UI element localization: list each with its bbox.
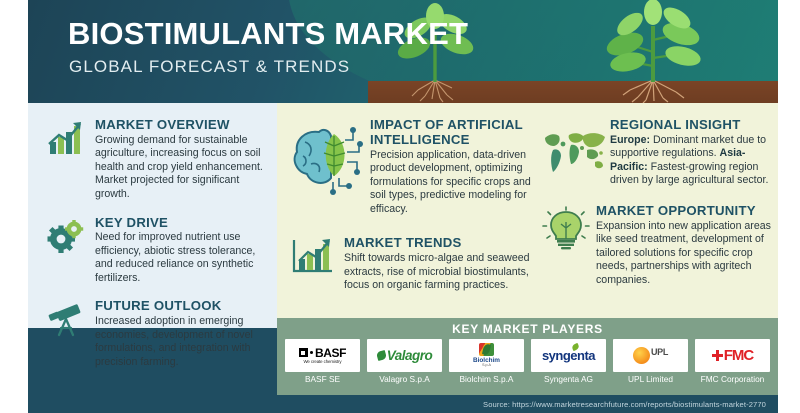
section-heading: MARKET TRENDS	[344, 236, 538, 251]
fmc-wordmark: FMC	[724, 347, 754, 364]
telescope-icon	[44, 301, 88, 343]
basf-wordmark: BASF	[315, 347, 346, 359]
fmc-cross-mark	[712, 350, 723, 361]
section-body: Shift towards micro-algae and seaweed ex…	[344, 252, 538, 293]
player-caption: BASF SE	[285, 375, 360, 384]
biolchim-suffix: S.p.A	[482, 364, 491, 368]
section-body-regional: Europe: Dominant market due to supportiv…	[610, 134, 772, 188]
valagro-wordmark: Valagro	[387, 348, 433, 363]
section-market-overview: MARKET OVERVIEW Growing demand for susta…	[44, 118, 272, 202]
biolchim-leaf-mark	[479, 343, 494, 356]
key-market-players-panel: KEY MARKET PLAYERS BASF We create chemis…	[277, 318, 778, 395]
player-caption: UPL Limited	[613, 375, 688, 384]
section-heading: REGIONAL INSIGHT	[610, 118, 772, 133]
players-title: KEY MARKET PLAYERS	[277, 318, 778, 336]
section-heading: MARKET OPPORTUNITY	[596, 204, 772, 219]
basf-logo: BASF We create chemistry	[285, 339, 360, 372]
section-market-trends: MARKET TRENDS Shift towards micro-algae …	[288, 236, 538, 292]
section-regional-insight: REGIONAL INSIGHT Europe: Dominant market…	[540, 118, 772, 188]
valagro-logo: Valagro	[367, 339, 442, 372]
column-middle: IMPACT OF ARTIFICIAL INTELLIGENCE Precis…	[288, 118, 538, 302]
section-heading: FUTURE OUTLOOK	[95, 299, 272, 314]
section-body: Expansion into new application areas lik…	[596, 220, 772, 288]
right-margin	[778, 0, 800, 413]
section-market-opportunity: MARKET OPPORTUNITY Expansion into new ap…	[540, 204, 772, 288]
syngenta-wordmark: syngenta	[542, 348, 595, 363]
player-valagro[interactable]: Valagro Valagro S.p.A	[367, 339, 442, 384]
players-logo-row: BASF We create chemistry BASF SE Valagro…	[277, 336, 778, 384]
basf-square-mark	[299, 348, 308, 357]
gears-icon	[44, 218, 88, 260]
player-upl[interactable]: UPL UPL Limited	[613, 339, 688, 384]
player-caption: Syngenta AG	[531, 375, 606, 384]
world-map-icon	[540, 126, 610, 184]
plant-illustration-right	[588, 0, 718, 103]
page-subtitle: GLOBAL FORECAST & TRENDS	[69, 57, 468, 77]
player-caption: Valagro S.p.A	[367, 375, 442, 384]
upl-wordmark: UPL	[651, 347, 668, 357]
section-body: Growing demand for sustainable agricultu…	[95, 134, 272, 202]
fmc-logo: FMC	[695, 339, 770, 372]
section-body: Precision application, data-driven produ…	[370, 149, 538, 217]
section-heading: IMPACT OF ARTIFICIAL INTELLIGENCE	[370, 118, 538, 148]
brain-leaf-circuit-icon	[288, 122, 366, 198]
column-left: MARKET OVERVIEW Growing demand for susta…	[44, 118, 272, 378]
section-key-drive: KEY DRIVE Need for improved nutrient use…	[44, 216, 272, 286]
player-fmc[interactable]: FMC FMC Corporation	[695, 339, 770, 384]
player-biolchim[interactable]: Biolchim S.p.A Biolchim S.p.A	[449, 339, 524, 384]
infographic-poster: BIOSTIMULANTS MARKET GLOBAL FORECAST & T…	[0, 0, 800, 413]
player-basf[interactable]: BASF We create chemistry BASF SE	[285, 339, 360, 384]
header-text-block: BIOSTIMULANTS MARKET GLOBAL FORECAST & T…	[68, 18, 468, 77]
page-title: BIOSTIMULANTS MARKET	[68, 18, 468, 51]
section-impact-of-ai: IMPACT OF ARTIFICIAL INTELLIGENCE Precis…	[288, 118, 538, 216]
lightbulb-icon	[540, 206, 592, 252]
section-body: Need for improved nutrient use efficienc…	[95, 231, 272, 285]
source-link[interactable]: Source: https://www.marketresearchfuture…	[28, 395, 778, 409]
syngenta-logo: syngenta	[531, 339, 606, 372]
section-heading: KEY DRIVE	[95, 216, 272, 231]
region-label-europe: Europe:	[610, 134, 650, 146]
player-syngenta[interactable]: syngenta Syngenta AG	[531, 339, 606, 384]
bar-chart-growth-icon	[288, 238, 338, 280]
left-margin	[0, 0, 28, 413]
section-body: Increased adoption in emerging economies…	[95, 315, 272, 369]
player-caption: FMC Corporation	[695, 375, 770, 384]
basf-dot-mark	[310, 351, 313, 354]
footer-bar: Source: https://www.marketresearchfuture…	[28, 395, 778, 413]
header-banner: BIOSTIMULANTS MARKET GLOBAL FORECAST & T…	[28, 0, 778, 103]
basf-tagline: We create chemistry	[303, 360, 341, 364]
bar-chart-growth-icon	[44, 120, 88, 162]
section-heading: MARKET OVERVIEW	[95, 118, 272, 133]
player-caption: Biolchim S.p.A	[449, 375, 524, 384]
upl-logo: UPL	[613, 339, 688, 372]
section-future-outlook: FUTURE OUTLOOK Increased adoption in eme…	[44, 299, 272, 369]
upl-orange-circle-mark	[633, 347, 650, 364]
column-right: REGIONAL INSIGHT Europe: Dominant market…	[540, 118, 772, 296]
valagro-leaf-mark	[376, 350, 387, 361]
biolchim-logo: Biolchim S.p.A	[449, 339, 524, 372]
